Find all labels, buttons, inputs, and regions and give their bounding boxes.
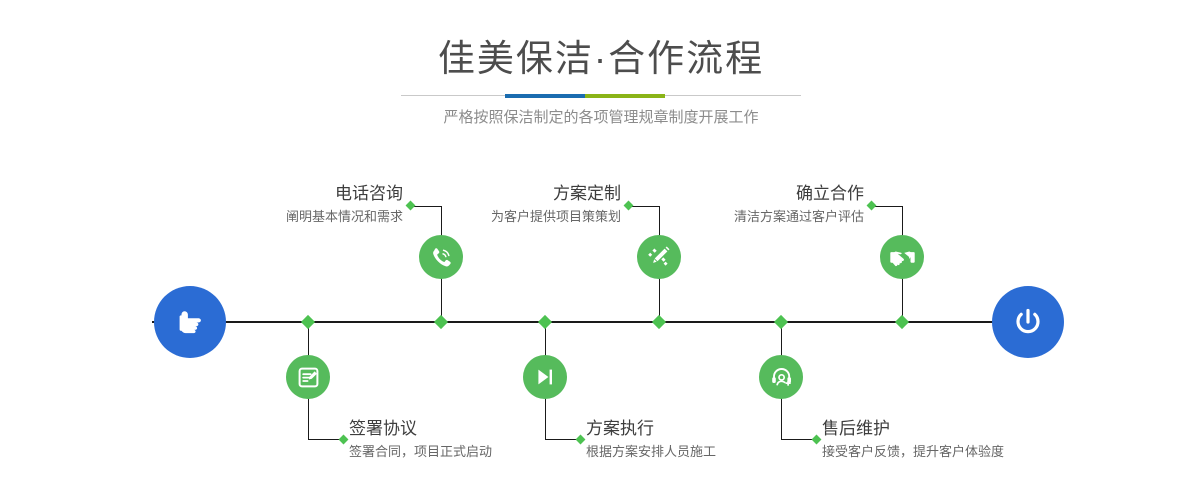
step-desc: 清洁方案通过客户评估 <box>608 207 864 227</box>
connector-horizontal-top-1 <box>411 206 442 207</box>
step-label-top-2: 方案定制 为客户提供项目策策划 <box>365 183 621 227</box>
connector-endpoint-diamond-bottom-1 <box>339 435 349 445</box>
pointing-hand-icon <box>172 304 208 340</box>
power-icon <box>1009 303 1047 341</box>
divider-segment-green <box>585 94 665 98</box>
connector-endpoint-diamond-top-3 <box>867 201 877 211</box>
phone-ring-icon <box>428 244 454 270</box>
step-icon-play-step[interactable] <box>523 355 567 399</box>
page-title: 佳美保洁·合作流程 <box>0 36 1202 82</box>
handshake-icon <box>889 244 916 271</box>
title-divider <box>401 94 801 98</box>
step-icon-document-sign[interactable] <box>286 355 330 399</box>
header: 佳美保洁·合作流程 严格按照保洁制定的各项管理规章制度开展工作 <box>0 0 1202 140</box>
connector-horizontal-top-3 <box>872 206 903 207</box>
play-step-icon <box>533 365 557 389</box>
document-sign-icon <box>296 365 321 390</box>
timeline-start-node[interactable] <box>154 286 226 358</box>
axis-diamond-bottom-1 <box>301 315 315 329</box>
axis-diamond-top-1 <box>434 315 448 329</box>
step-title: 售后维护 <box>822 418 1162 440</box>
step-label-bottom-3: 售后维护 接受客户反馈，提升客户体验度 <box>822 418 1162 462</box>
axis-diamond-top-2 <box>652 315 666 329</box>
timeline-axis <box>152 321 1050 323</box>
divider-segment-blue <box>505 94 585 98</box>
step-title: 确立合作 <box>608 183 864 205</box>
axis-diamond-top-3 <box>895 315 909 329</box>
process-timeline: 电话咨询 阐明基本情况和需求 方案定制 为客户提供 <box>0 140 1202 502</box>
step-icon-customer-service-add[interactable] <box>759 355 803 399</box>
step-label-top-3: 确立合作 清洁方案通过客户评估 <box>608 183 864 227</box>
axis-diamond-bottom-2 <box>538 315 552 329</box>
connector-horizontal-top-2 <box>629 206 660 207</box>
step-desc: 接受客户反馈，提升客户体验度 <box>822 442 1162 462</box>
step-icon-pencil-edit[interactable] <box>637 235 681 279</box>
flowchart-page: 佳美保洁·合作流程 严格按照保洁制定的各项管理规章制度开展工作 <box>0 0 1202 502</box>
step-desc: 为客户提供项目策策划 <box>365 207 621 227</box>
step-title: 方案定制 <box>365 183 621 205</box>
customer-service-add-icon <box>769 365 794 390</box>
timeline-end-node[interactable] <box>992 286 1064 358</box>
step-icon-handshake[interactable] <box>880 235 924 279</box>
step-icon-phone-ring[interactable] <box>419 235 463 279</box>
axis-diamond-bottom-3 <box>774 315 788 329</box>
pencil-edit-icon <box>646 244 672 270</box>
page-subtitle: 严格按照保洁制定的各项管理规章制度开展工作 <box>0 107 1202 129</box>
